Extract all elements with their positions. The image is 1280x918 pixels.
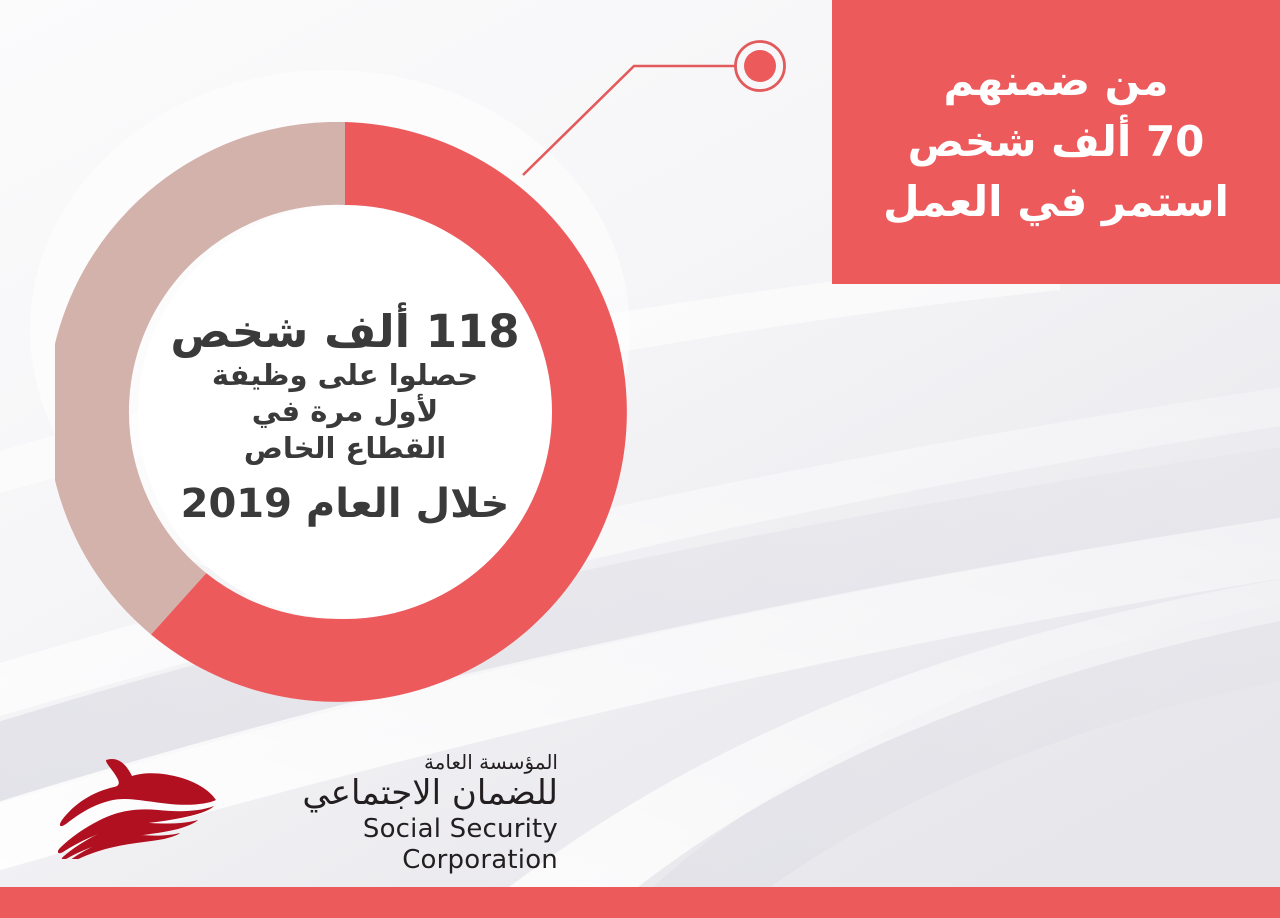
donut-center-label: 118 ألف شخص حصلوا على وظيفة لأول مرة في … xyxy=(183,267,507,567)
callout-line-2: 70 ألف شخص xyxy=(908,112,1205,173)
logo-arabic-top: المؤسسة العامة xyxy=(238,752,558,773)
donut-subline-1: حصلوا على وظيفة xyxy=(212,357,478,394)
logo-arabic-main: للضمان الاجتماعي xyxy=(238,774,558,812)
callout-line-3: استمر في العمل xyxy=(883,172,1229,233)
ssc-logo: المؤسسة العامة للضمان الاجتماعي Social S… xyxy=(58,752,558,864)
ssc-bird-icon xyxy=(58,754,238,859)
donut-subline-2: لأول مرة في xyxy=(252,393,438,430)
logo-english: Social Security Corporation xyxy=(238,814,558,876)
donut-headline: 118 ألف شخص xyxy=(170,308,519,357)
infographic-canvas: 118 ألف شخص حصلوا على وظيفة لأول مرة في … xyxy=(0,0,1280,918)
donut-year-label: خلال العام 2019 xyxy=(181,482,510,526)
callout-box: من ضمنهم 70 ألف شخص استمر في العمل xyxy=(832,0,1280,284)
donut-subline-3: القطاع الخاص xyxy=(244,430,446,467)
ssc-logo-text: المؤسسة العامة للضمان الاجتماعي Social S… xyxy=(238,752,558,876)
bottom-accent-bar xyxy=(0,887,1280,918)
donut-chart: 118 ألف شخص حصلوا على وظيفة لأول مرة في … xyxy=(55,122,635,702)
callout-line-1: من ضمنهم xyxy=(944,51,1169,112)
